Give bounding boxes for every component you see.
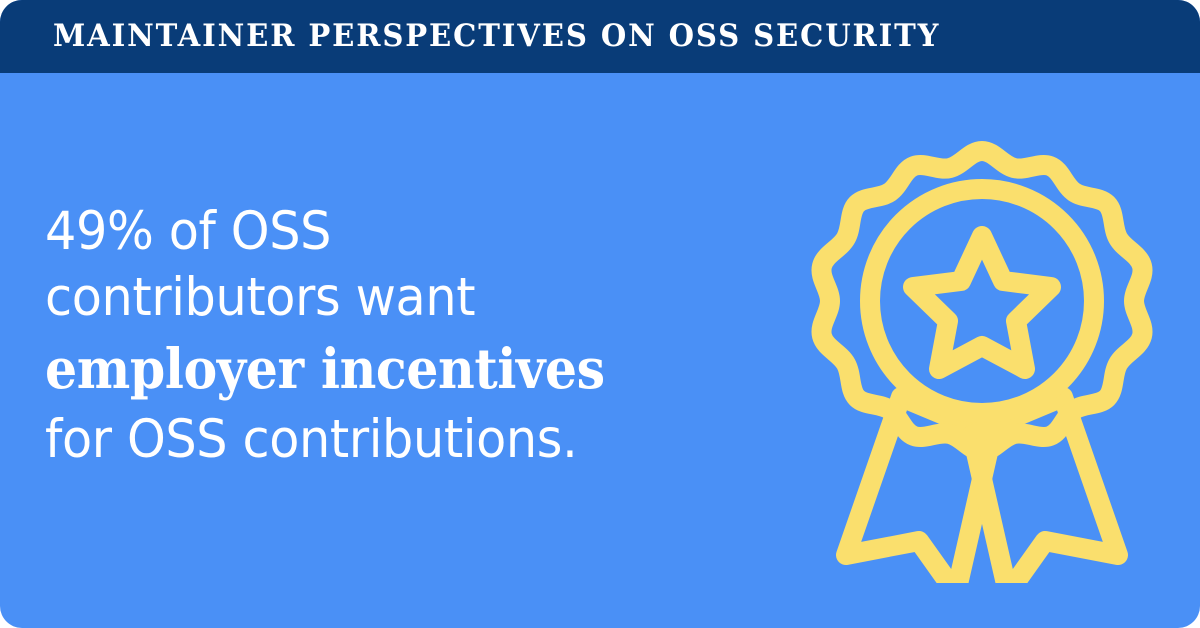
badge-inner-circle	[870, 189, 1094, 413]
stat-line-2: contributors want	[45, 265, 724, 331]
body-area: 49% of OSS contributors want employer in…	[0, 73, 1200, 628]
stat-line-3-emphasis: employer incentives	[45, 331, 717, 407]
award-ribbon-icon	[806, 135, 1158, 583]
infographic-card: MAINTAINER PERSPECTIVES ON OSS SECURITY …	[0, 0, 1200, 628]
stat-line-4: for OSS contributions.	[45, 407, 724, 473]
stat-statement: 49% of OSS contributors want employer in…	[45, 199, 775, 473]
ribbon-tail-left	[846, 397, 992, 583]
page-title: MAINTAINER PERSPECTIVES ON OSS SECURITY	[53, 21, 940, 52]
stat-line-1: 49% of OSS	[45, 199, 724, 265]
star-icon	[913, 236, 1051, 369]
header-band: MAINTAINER PERSPECTIVES ON OSS SECURITY	[0, 0, 1200, 73]
ribbon-tail-right	[972, 397, 1118, 583]
